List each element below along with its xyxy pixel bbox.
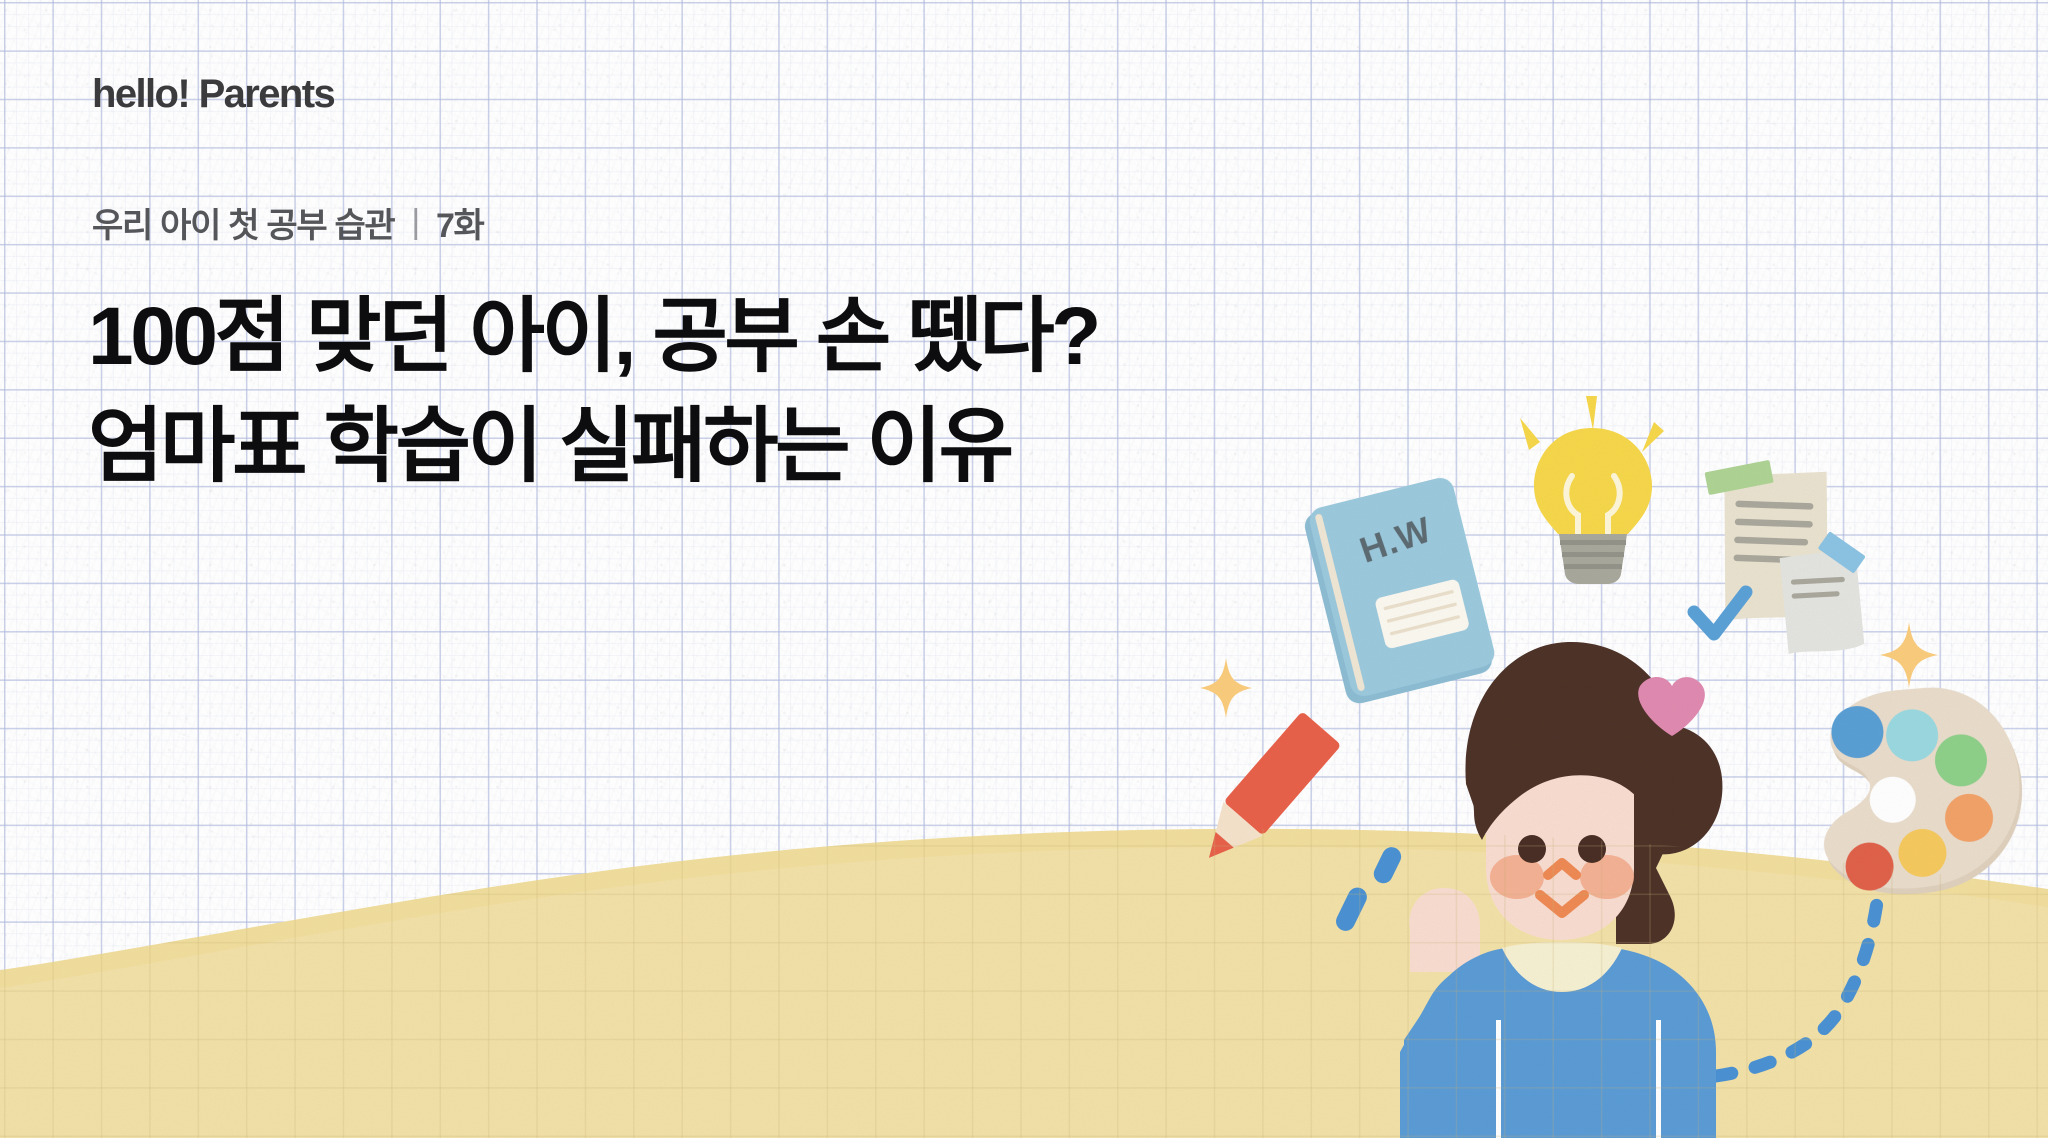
headline-line-2: 엄마표 학습이 실패하는 이유	[88, 392, 1098, 502]
headline-line-1: 100점 맞던 아이, 공부 손 뗐다?	[88, 282, 1098, 392]
page-title: 100점 맞던 아이, 공부 손 뗐다? 엄마표 학습이 실패하는 이유	[88, 282, 1098, 502]
brand-logo: hello! Parents	[92, 72, 334, 117]
yellow-hill-shape	[0, 688, 2048, 1138]
series-kicker: 우리 아이 첫 공부 습관 | 7화	[92, 198, 484, 247]
episode-number: 7화	[436, 198, 484, 247]
article-cover-card: hello! Parents 우리 아이 첫 공부 습관 | 7화 100점 맞…	[0, 0, 2048, 1138]
series-title: 우리 아이 첫 공부 습관	[92, 198, 394, 247]
kicker-divider: |	[411, 203, 419, 242]
